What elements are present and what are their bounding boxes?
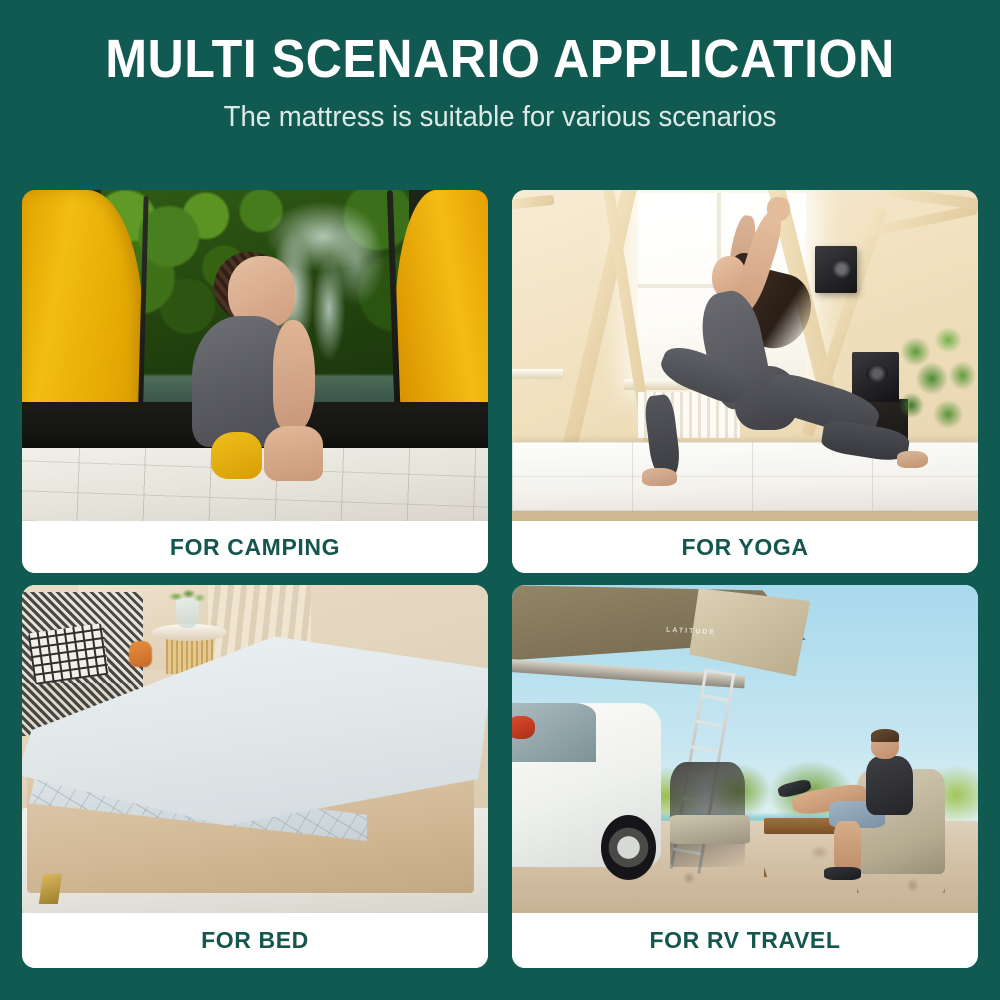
camping-caption-bar: FOR CAMPING [22, 521, 488, 573]
man-torso [866, 756, 913, 815]
page-subtitle: The mattress is suitable for various sce… [25, 100, 975, 134]
scenario-card-yoga[interactable]: FOR YOGA [512, 190, 978, 573]
throw-pillow [28, 623, 109, 685]
rv-travel-photo: LATITUDE [512, 585, 978, 913]
yoga-caption-bar: FOR YOGA [512, 521, 978, 573]
scenario-card-rv-travel[interactable]: LATITUDE FOR RV TRAVEL [512, 585, 978, 968]
vase-greenery [166, 588, 208, 604]
camper-arm [273, 320, 315, 430]
folding-table-top [764, 818, 839, 834]
page-title: MULTI SCENARIO APPLICATION [35, 30, 965, 88]
car-wheel [601, 815, 657, 881]
scenario-card-grid: FOR CAMPING [22, 190, 978, 968]
yoga-hands [767, 197, 790, 220]
yoga-label: FOR YOGA [681, 534, 808, 561]
window-sill-left [512, 369, 563, 379]
camping-label: FOR CAMPING [170, 534, 340, 561]
camper-leg [264, 426, 323, 481]
bed-photo [22, 585, 488, 913]
yoga-photo [512, 190, 978, 521]
man-shoe [824, 867, 861, 880]
camper-figure [180, 256, 320, 468]
scenario-card-bed[interactable]: FOR BED [22, 585, 488, 968]
bed-leg [39, 874, 62, 904]
bed-caption-bar: FOR BED [22, 913, 488, 968]
scenario-card-camping[interactable]: FOR CAMPING [22, 190, 488, 573]
yoga-front-shin [643, 394, 682, 478]
yoga-figure [642, 203, 931, 494]
yoga-back-foot [897, 451, 929, 468]
man-hair [871, 729, 899, 742]
bed-label: FOR BED [201, 927, 309, 954]
page-header: MULTI SCENARIO APPLICATION The mattress … [0, 0, 1000, 134]
rv-travel-caption-bar: FOR RV TRAVEL [512, 913, 978, 968]
man-shin [834, 821, 862, 873]
yoga-front-foot [642, 468, 677, 485]
red-gear-item [512, 716, 535, 739]
rv-travel-label: FOR RV TRAVEL [650, 927, 841, 954]
camping-chair-right-legs [857, 864, 946, 894]
camping-chair-left-seat [670, 815, 749, 845]
table-lamp [129, 641, 152, 667]
camping-photo [22, 190, 488, 521]
camper-yellow-cushion [211, 432, 261, 479]
